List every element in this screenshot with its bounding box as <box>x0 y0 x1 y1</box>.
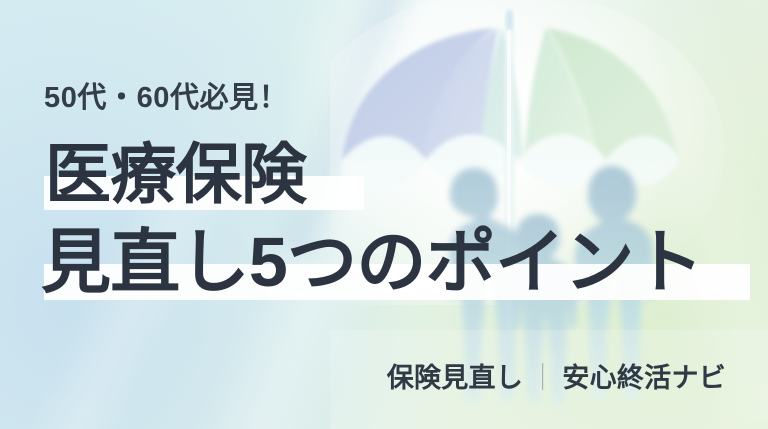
headline-line-1-text: 医療保険 <box>36 134 306 214</box>
eyebrow-text: 50代・60代必見！ <box>44 74 288 116</box>
footer-separator: ｜ <box>523 363 562 393</box>
insurance-review-banner: 50代・60代必見！ 医療保険 見直し5つのポイント 保険見直し｜安心終活ナビ <box>0 0 768 429</box>
footer-brand-left: 保険見直し <box>387 363 523 393</box>
headline-line-1: 医療保険 <box>36 134 756 214</box>
headline-line-2: 見直し5つのポイント <box>36 218 756 306</box>
headline-block: 医療保険 見直し5つのポイント <box>36 134 756 306</box>
footer-brand-right: 安心終活ナビ <box>562 363 726 393</box>
footer-brand: 保険見直し｜安心終活ナビ <box>387 356 726 395</box>
headline-line-2-text: 見直し5つのポイント <box>36 218 703 306</box>
